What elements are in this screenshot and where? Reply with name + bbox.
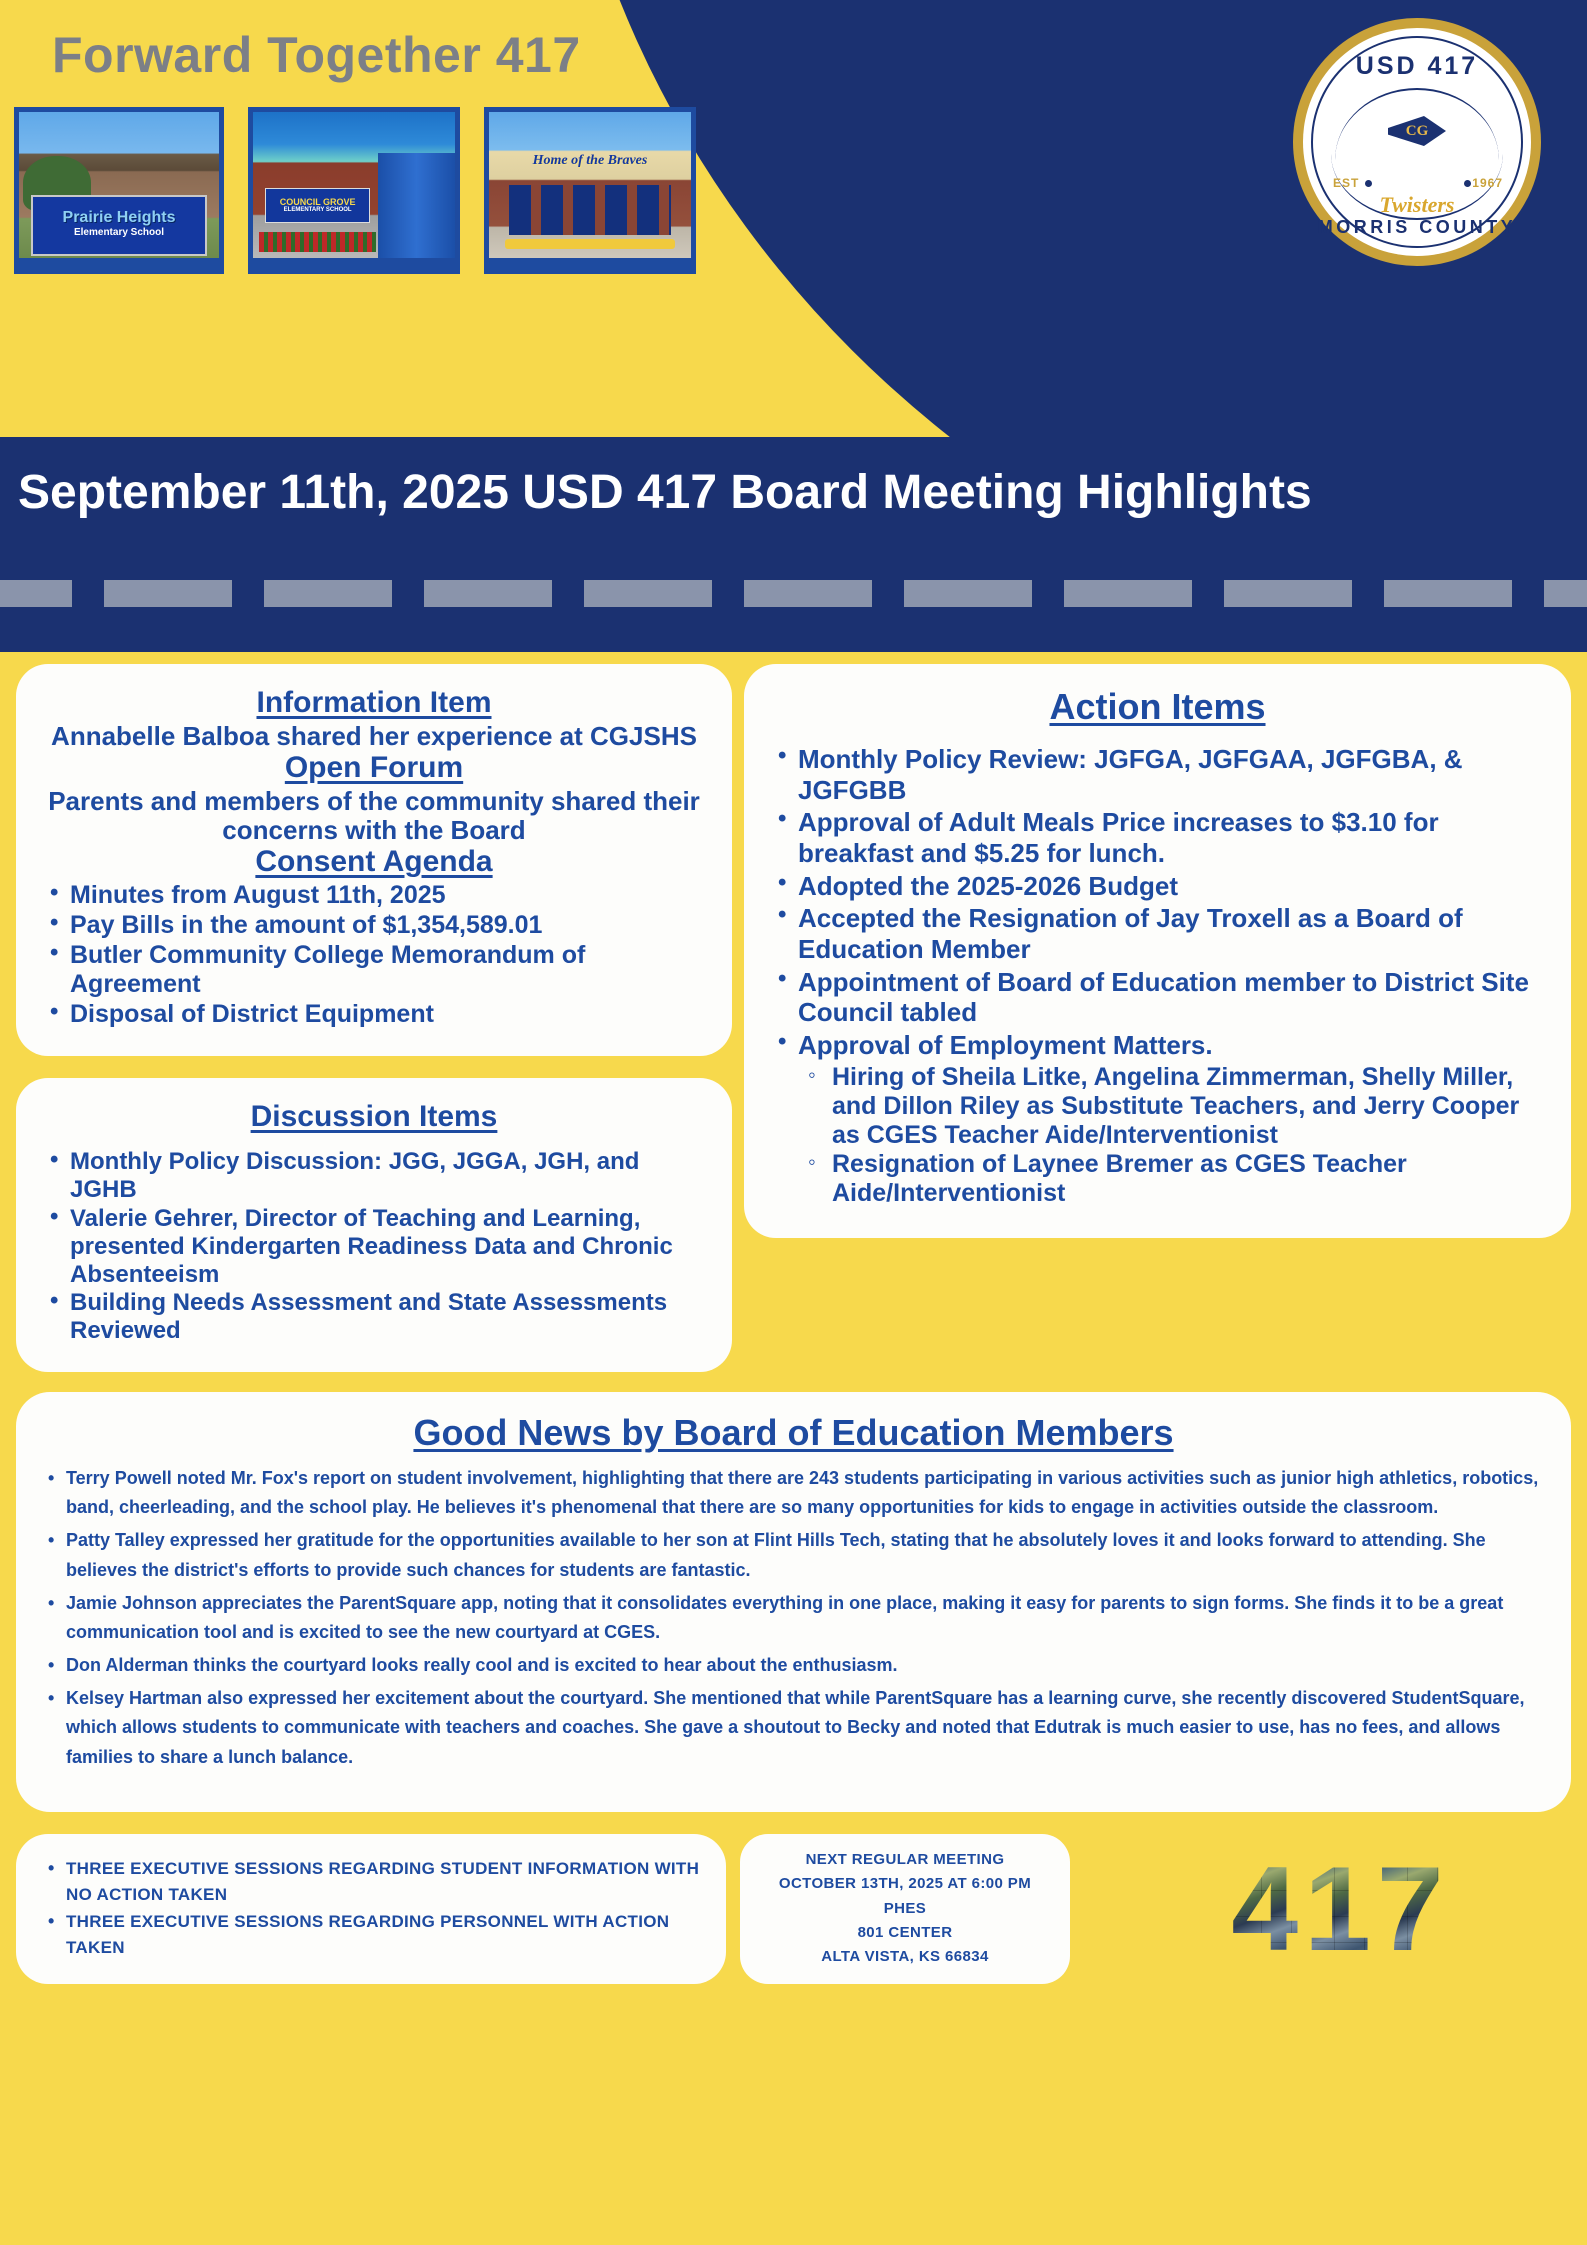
action-items-list: Monthly Policy Review: JGFGA, JGFGAA, JG… [770,744,1545,1061]
discussion-items-title: Discussion Items [42,1100,706,1134]
council-grove-sign-line1: COUNCIL GROVE [280,198,356,207]
next-meeting-line5: ALTA VISTA, KS 66834 [750,1945,1060,1969]
good-news-card: Good News by Board of Education Members … [16,1392,1571,1812]
sub-list-item: Hiring of Sheila Litke, Angelina Zimmerm… [804,1063,1545,1150]
417-photo-collage-logo: 4 1 7 [1084,1834,1571,1984]
executive-sessions-list: THREE EXECUTIVE SESSIONS REGARDING STUDE… [40,1856,702,1961]
open-forum-line: Parents and members of the community sha… [42,787,706,845]
meeting-heading: September 11th, 2025 USD 417 Board Meeti… [18,465,1578,520]
next-meeting-line1: NEXT REGULAR MEETING [750,1848,1060,1872]
list-item: Approval of Adult Meals Price increases … [770,807,1545,868]
photo-braves-entrance: Home of the Braves [484,107,696,274]
seal-dot-left [1365,180,1372,187]
list-item: Terry Powell noted Mr. Fox's report on s… [42,1464,1545,1522]
seal-dot-right [1464,180,1471,187]
prairie-heights-sign-line2: Elementary School [74,226,164,240]
right-column: Action Items Monthly Policy Review: JGFG… [744,664,1571,1238]
executive-sessions-card: THREE EXECUTIVE SESSIONS REGARDING STUDE… [16,1834,726,1984]
list-item: Minutes from August 11th, 2025 [42,881,706,910]
list-item: Don Alderman thinks the courtyard looks … [42,1651,1545,1680]
photo-council-grove: COUNCIL GROVE ELEMENTARY SCHOOL [248,107,460,274]
seal-est-year: 1967 [1472,176,1503,190]
seal-gold-ring: USD 417 CG EST 1967 Twisters MORRIS COUN… [1293,18,1541,266]
decorative-dash-row [0,580,1587,607]
photo-image-braves-entrance: Home of the Braves [489,112,691,258]
photo-prairie-heights: Prairie Heights Elementary School [14,107,224,274]
collage-digit-1: 1 [1304,1849,1371,1969]
dash-segment [104,580,232,607]
list-item: Accepted the Resignation of Jay Troxell … [770,903,1545,964]
list-item: Monthly Policy Discussion: JGG, JGGA, JG… [42,1148,706,1204]
dash-segment [0,580,72,607]
flowerbed-decoration [259,232,376,252]
list-item: THREE EXECUTIVE SESSIONS REGARDING STUDE… [40,1856,702,1909]
dash-segment [264,580,392,607]
council-grove-sign-line2: ELEMENTARY SCHOOL [284,207,352,213]
list-item: Butler Community College Memorandum of A… [42,941,706,999]
list-item: THREE EXECUTIVE SESSIONS REGARDING PERSO… [40,1909,702,1962]
braves-sign-text: Home of the Braves [513,153,667,169]
good-news-list: Terry Powell noted Mr. Fox's report on s… [42,1464,1545,1772]
page-title: Forward Together 417 [52,26,581,84]
newsletter-page: Forward Together 417 Prairie Heights Ele… [0,0,1587,2245]
page-footer: THREE EXECUTIVE SESSIONS REGARDING STUDE… [0,1834,1587,1984]
collage-digit-7: 7 [1377,1849,1444,1969]
council-grove-sign: COUNCIL GROVE ELEMENTARY SCHOOL [265,188,370,223]
action-items-title: Action Items [770,686,1545,728]
next-meeting-line3: PHES [750,1897,1060,1921]
list-item: Approval of Employment Matters. [770,1030,1545,1061]
next-meeting-line4: 801 CENTER [750,1921,1060,1945]
seal-face: USD 417 CG EST 1967 Twisters MORRIS COUN… [1303,28,1531,256]
consent-agenda-title: Consent Agenda [42,845,706,879]
blue-building-wing [378,153,455,258]
list-item: Building Needs Assessment and State Asse… [42,1289,706,1345]
list-item: Jamie Johnson appreciates the ParentSqua… [42,1589,1545,1647]
school-photo-row: Prairie Heights Elementary School COUNCI… [14,107,696,274]
list-item: Appointment of Board of Education member… [770,967,1545,1028]
seal-bottom-text: MORRIS COUNTY [1303,217,1531,238]
collage-digit-4: 4 [1231,1849,1298,1969]
entrance-doors [509,185,671,235]
list-item: Valerie Gehrer, Director of Teaching and… [42,1205,706,1288]
photo-image-council-grove: COUNCIL GROVE ELEMENTARY SCHOOL [253,112,455,258]
page-header: Forward Together 417 Prairie Heights Ele… [0,0,1587,437]
content-area: Information Item Annabelle Balboa shared… [0,652,1587,1372]
meeting-title-band: September 11th, 2025 USD 417 Board Meeti… [0,437,1587,652]
good-news-title: Good News by Board of Education Members [42,1412,1545,1454]
next-meeting-line2: OCTOBER 13TH, 2025 AT 6:00 PM [750,1872,1060,1896]
seal-top-text: USD 417 [1303,52,1531,81]
list-item: Disposal of District Equipment [42,1000,706,1029]
dash-segment [1384,580,1512,607]
dash-segment [904,580,1032,607]
dash-segment [584,580,712,607]
twisters-mascot-icon: Twisters [1380,192,1455,218]
yellow-curb [505,239,675,249]
list-item: Adopted the 2025-2026 Budget [770,871,1545,902]
list-item: Monthly Policy Review: JGFGA, JGFGAA, JG… [770,744,1545,805]
left-column: Information Item Annabelle Balboa shared… [16,664,732,1372]
photo-image-prairie-heights: Prairie Heights Elementary School [19,112,219,258]
next-meeting-card: NEXT REGULAR MEETING OCTOBER 13TH, 2025 … [740,1834,1070,1984]
two-column-layout: Information Item Annabelle Balboa shared… [16,652,1571,1372]
sub-list-item: Resignation of Laynee Bremer as CGES Tea… [804,1150,1545,1208]
list-item: Patty Talley expressed her gratitude for… [42,1526,1545,1584]
dash-segment [1544,580,1587,607]
dash-segment [1224,580,1352,607]
usd-417-seal: USD 417 CG EST 1967 Twisters MORRIS COUN… [1293,18,1541,266]
consent-agenda-list: Minutes from August 11th, 2025 Pay Bills… [42,881,706,1029]
open-forum-title: Open Forum [42,751,706,785]
discussion-items-list: Monthly Policy Discussion: JGG, JGGA, JG… [42,1148,706,1345]
employment-matters-sublist: Hiring of Sheila Litke, Angelina Zimmerm… [770,1063,1545,1208]
seal-est-label: EST [1333,176,1359,190]
dash-segment [1064,580,1192,607]
information-item-title: Information Item [42,686,706,720]
action-items-card: Action Items Monthly Policy Review: JGFG… [744,664,1571,1238]
list-item: Pay Bills in the amount of $1,354,589.01 [42,911,706,940]
list-item: Kelsey Hartman also expressed her excite… [42,1684,1545,1771]
information-item-line: Annabelle Balboa shared her experience a… [42,722,706,751]
arrowhead-monogram: CG [1406,123,1429,140]
prairie-heights-sign-line1: Prairie Heights [63,210,176,226]
prairie-heights-sign: Prairie Heights Elementary School [31,195,207,256]
discussion-items-card: Discussion Items Monthly Policy Discussi… [16,1078,732,1372]
information-item-card: Information Item Annabelle Balboa shared… [16,664,732,1056]
dash-segment [424,580,552,607]
dash-segment [744,580,872,607]
